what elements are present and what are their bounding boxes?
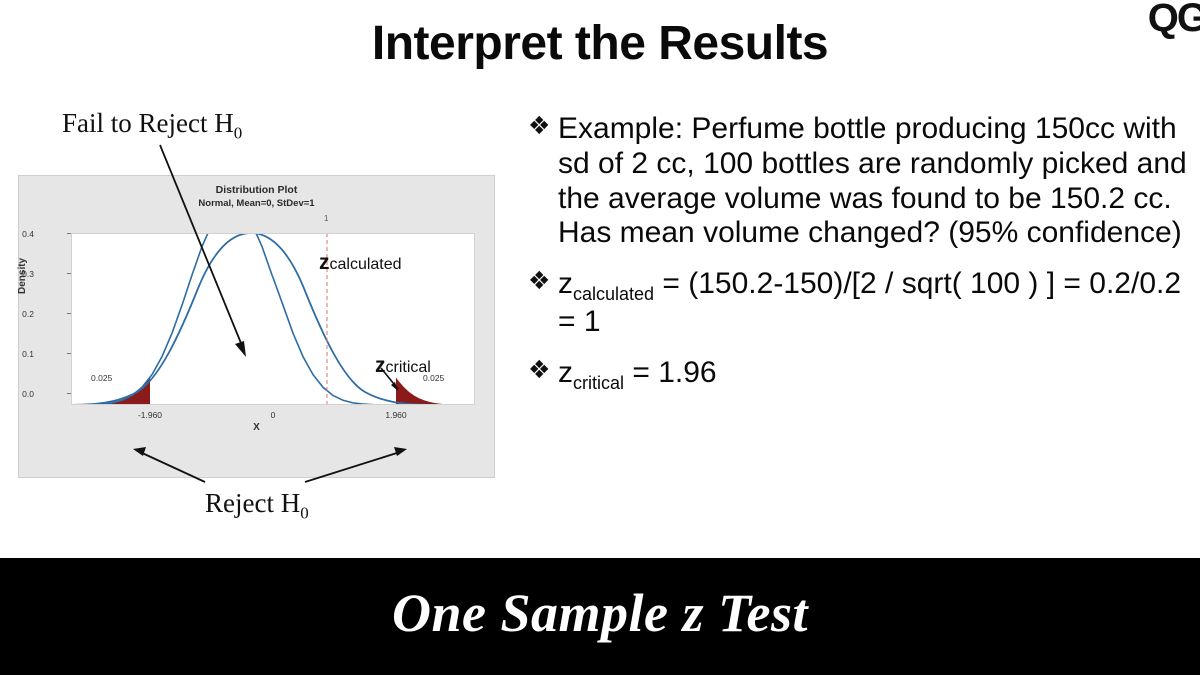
y-tick-0.0: 0.0 bbox=[0, 389, 34, 399]
bullet-list: ❖ Example: Perfume bottle producing 150c… bbox=[528, 112, 1200, 410]
page-title: Interpret the Results bbox=[0, 16, 1200, 71]
bullet-text-z-calculated: zcalculated = (150.2-150)/[2 / sqrt( 100… bbox=[558, 267, 1200, 340]
z-critical-prefix: z bbox=[558, 356, 573, 389]
z-calculated-sub: calculated bbox=[573, 284, 654, 304]
z-critical-value: = 1.96 bbox=[624, 356, 717, 389]
fail-to-reject-text: Fail to Reject H bbox=[62, 108, 234, 138]
bullet-text-example: Example: Perfume bottle producing 150cc … bbox=[558, 112, 1200, 251]
z-calculated-subscript: calculated bbox=[330, 256, 402, 273]
distribution-plot: Distribution Plot Normal, Mean=0, StDev=… bbox=[18, 175, 495, 478]
z-critical-subscript: critical bbox=[386, 359, 431, 376]
bullet-marker-icon: ❖ bbox=[528, 112, 558, 141]
chart-title-main: Distribution Plot bbox=[216, 184, 298, 196]
reject-subscript: 0 bbox=[300, 503, 309, 522]
z-critical-sub: critical bbox=[573, 373, 624, 393]
bullet-item-z-critical: ❖ zcritical = 1.96 bbox=[528, 356, 1200, 394]
bullet-marker-icon: ❖ bbox=[528, 356, 558, 385]
bullet-item-z-calculated: ❖ zcalculated = (150.2-150)/[2 / sqrt( 1… bbox=[528, 267, 1200, 340]
bottom-banner: One Sample z Test bbox=[0, 558, 1200, 675]
z-calculated-letter: z bbox=[319, 251, 330, 274]
z-calculated-plot-label: zcalculated bbox=[319, 251, 402, 275]
plot-area bbox=[71, 233, 475, 405]
y-tick-0.2: 0.2 bbox=[0, 309, 34, 319]
bullet-text-z-critical: zcritical = 1.96 bbox=[558, 356, 1200, 394]
z-critical-letter: z bbox=[375, 354, 386, 377]
left-tail-area-label: 0.025 bbox=[91, 373, 112, 383]
y-tick-0.1: 0.1 bbox=[0, 349, 34, 359]
reject-text: Reject H bbox=[205, 488, 300, 518]
chart-title: Distribution Plot Normal, Mean=0, StDev=… bbox=[19, 184, 494, 210]
reference-line-value: 1 bbox=[324, 214, 328, 223]
x-tick-1.96: 1.960 bbox=[366, 410, 426, 420]
slide: QG Interpret the Results Fail to Reject … bbox=[0, 0, 1200, 675]
y-tick-0.3: 0.3 bbox=[0, 269, 34, 279]
reject-label: Reject H0 bbox=[205, 488, 309, 523]
chart-subtitle: Normal, Mean=0, StDev=1 bbox=[198, 198, 314, 209]
fail-to-reject-subscript: 0 bbox=[234, 123, 243, 142]
bullet-marker-icon: ❖ bbox=[528, 267, 558, 296]
y-tick-0.4: 0.4 bbox=[0, 229, 34, 239]
z-critical-plot-label: zcritical bbox=[375, 354, 431, 378]
x-tick-neg1.96: -1.960 bbox=[120, 410, 180, 420]
bullet-item-example: ❖ Example: Perfume bottle producing 150c… bbox=[528, 112, 1200, 251]
x-axis-label: X bbox=[19, 422, 494, 433]
z-calculated-prefix: z bbox=[558, 267, 573, 300]
fail-to-reject-label: Fail to Reject H0 bbox=[62, 108, 242, 143]
x-tick-0: 0 bbox=[243, 410, 303, 420]
banner-title: One Sample z Test bbox=[0, 582, 1200, 644]
